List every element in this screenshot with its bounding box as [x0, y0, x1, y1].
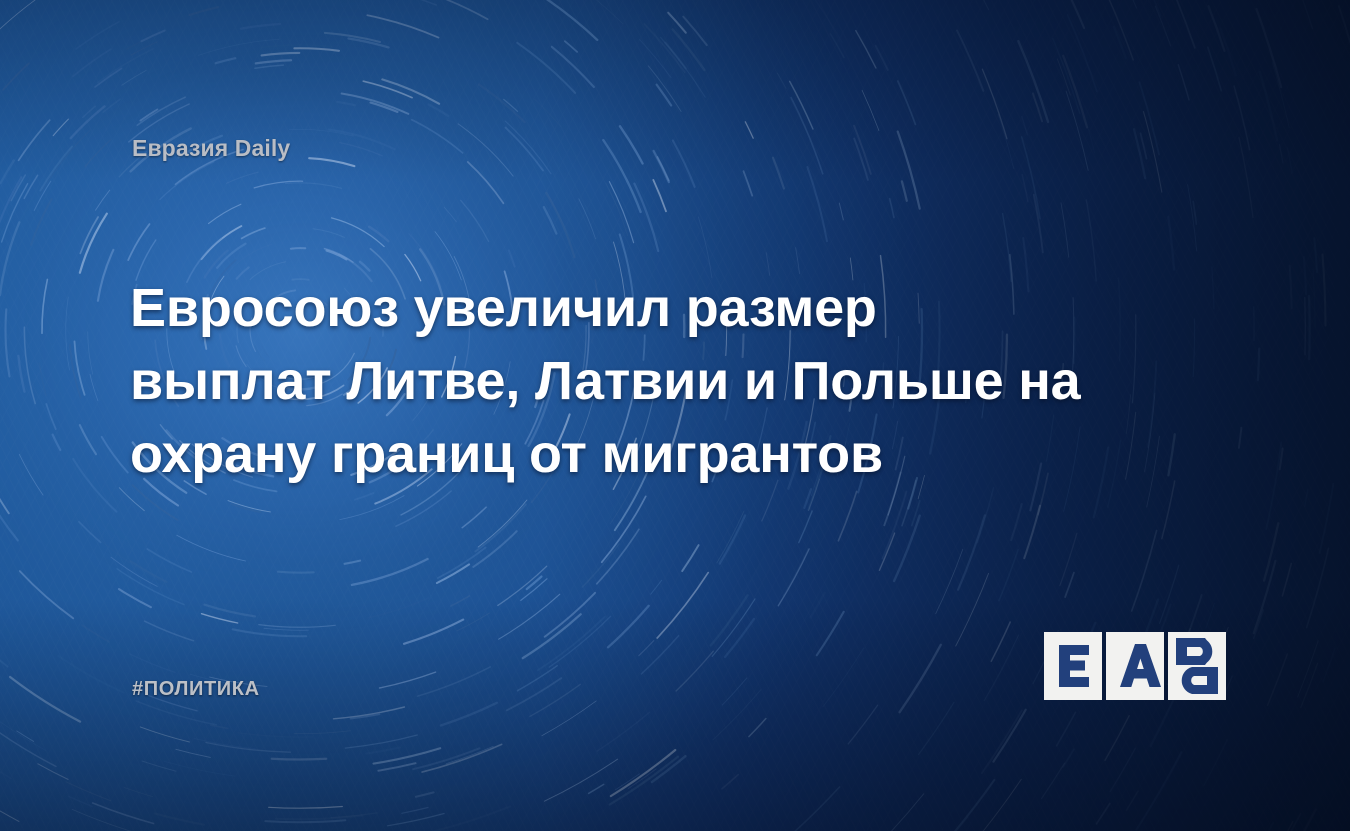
card-content: Евразия Daily Евросоюз увеличил размер в…: [0, 0, 1350, 831]
brand-name: Евразия Daily: [132, 135, 290, 162]
news-card: Евразия Daily Евросоюз увеличил размер в…: [0, 0, 1350, 831]
category-tag[interactable]: #ПОЛИТИКА: [132, 678, 260, 701]
eadaily-logo[interactable]: [1042, 626, 1242, 710]
logo-letter-e: [1059, 645, 1089, 687]
page-title: Евросоюз увеличил размер выплат Литве, Л…: [130, 272, 1090, 491]
